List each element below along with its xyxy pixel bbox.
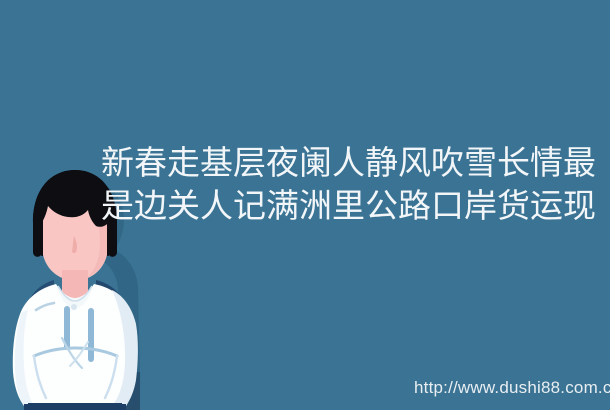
pants-block [28, 403, 122, 410]
headline-line-1: 新春走基层夜阑人静风吹雪长情最 [101, 141, 601, 184]
drawstring-eyelet [71, 304, 77, 310]
headline-text: 新春走基层夜阑人静风吹雪长情最 是边关人记满洲里公路口岸货运现 [101, 141, 601, 227]
watermark-url: http://www.dushi88.com.cn [414, 378, 610, 398]
drawstring-right [88, 308, 94, 362]
thumbnail-canvas: 新春走基层夜阑人静风吹雪长情最 是边关人记满洲里公路口岸货运现 http://w… [0, 0, 610, 410]
headline-line-2: 是边关人记满洲里公路口岸货运现 [101, 184, 601, 227]
